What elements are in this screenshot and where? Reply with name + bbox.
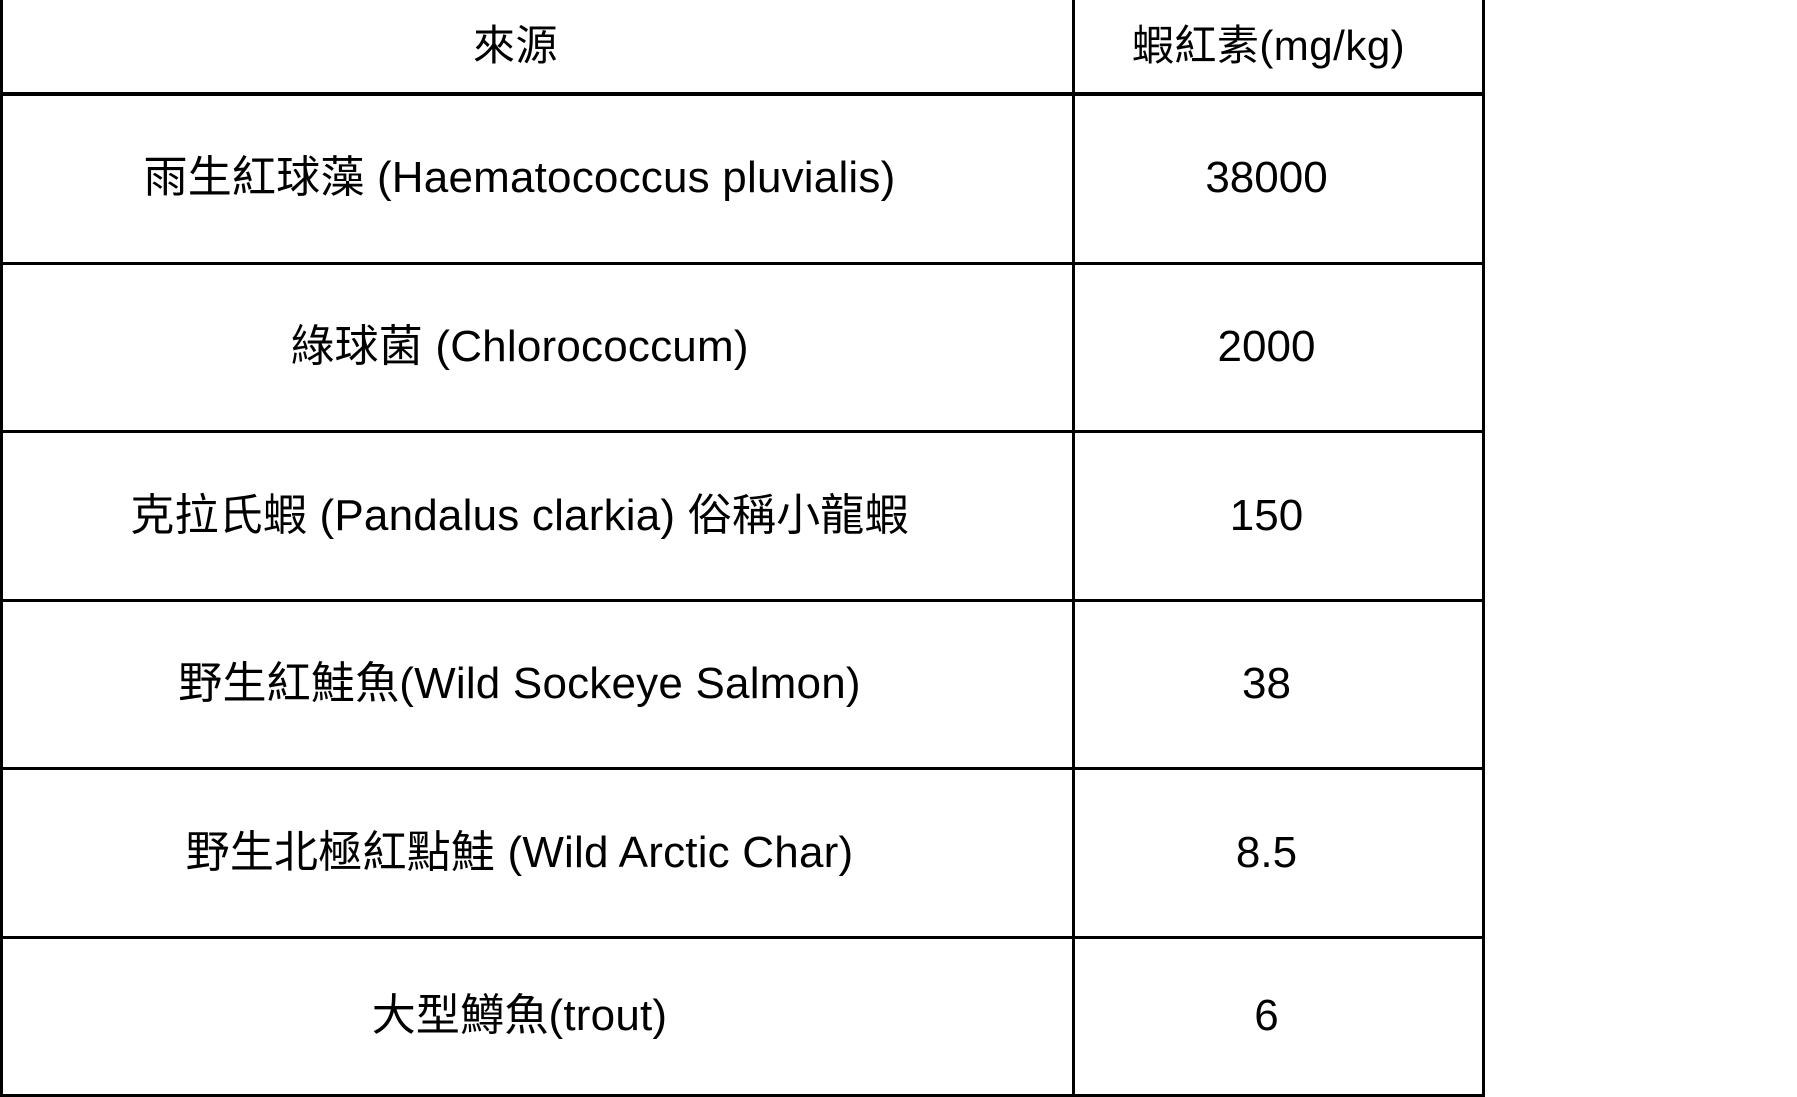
column-header-astaxanthin-label: 蝦紅素(mg/kg) [1132,22,1405,70]
table-row: 克拉氏蝦 (Pandalus clarkia) 俗稱小龍蝦 150 [2,432,1484,601]
cell-source-label: 雨生紅球藻 (Haematococcus pluvialis) [144,153,896,204]
cell-value: 150 [1074,432,1484,601]
cell-source-label: 大型鱒魚(trout) [372,991,668,1042]
cell-source: 野生紅鮭魚(Wild Sockeye Salmon) [2,600,1074,769]
cell-value-label: 38 [1242,659,1291,710]
table-row: 野生北極紅點鮭 (Wild Arctic Char) 8.5 [2,769,1484,938]
cell-value: 6 [1074,937,1484,1095]
table-header-row: 來源 蝦紅素(mg/kg) [2,0,1484,94]
cell-value-label: 2000 [1218,322,1316,373]
cell-value-label: 150 [1230,491,1303,542]
cell-value: 38 [1074,600,1484,769]
cell-value-label: 6 [1254,991,1278,1042]
column-header-source-label: 來源 [473,22,558,70]
cell-source-label: 野生紅鮭魚(Wild Sockeye Salmon) [178,659,860,710]
cell-source: 綠球菌 (Chlorococcum) [2,263,1074,432]
cell-source: 雨生紅球藻 (Haematococcus pluvialis) [2,94,1074,263]
astaxanthin-source-table-container: 來源 蝦紅素(mg/kg) 雨生紅球藻 (Haematococcus pluvi… [0,0,1797,1097]
table-row: 雨生紅球藻 (Haematococcus pluvialis) 38000 [2,94,1484,263]
table-body: 雨生紅球藻 (Haematococcus pluvialis) 38000 綠球… [2,94,1484,1096]
cell-value: 38000 [1074,94,1484,263]
cell-source: 野生北極紅點鮭 (Wild Arctic Char) [2,769,1074,938]
cell-value: 2000 [1074,263,1484,432]
cell-value-label: 38000 [1205,153,1327,204]
table-row: 綠球菌 (Chlorococcum) 2000 [2,263,1484,432]
column-header-astaxanthin: 蝦紅素(mg/kg) [1074,0,1484,94]
cell-value-label: 8.5 [1236,828,1297,879]
cell-source-label: 克拉氏蝦 (Pandalus clarkia) 俗稱小龍蝦 [130,491,908,542]
table-row: 野生紅鮭魚(Wild Sockeye Salmon) 38 [2,600,1484,769]
table-header: 來源 蝦紅素(mg/kg) [2,0,1484,94]
cell-value: 8.5 [1074,769,1484,938]
table-row: 大型鱒魚(trout) 6 [2,937,1484,1095]
cell-source: 克拉氏蝦 (Pandalus clarkia) 俗稱小龍蝦 [2,432,1074,601]
cell-source: 大型鱒魚(trout) [2,937,1074,1095]
column-header-source: 來源 [2,0,1074,94]
astaxanthin-content-table: 來源 蝦紅素(mg/kg) 雨生紅球藻 (Haematococcus pluvi… [0,0,1485,1097]
cell-source-label: 綠球菌 (Chlorococcum) [290,322,748,373]
cell-source-label: 野生北極紅點鮭 (Wild Arctic Char) [186,828,854,879]
